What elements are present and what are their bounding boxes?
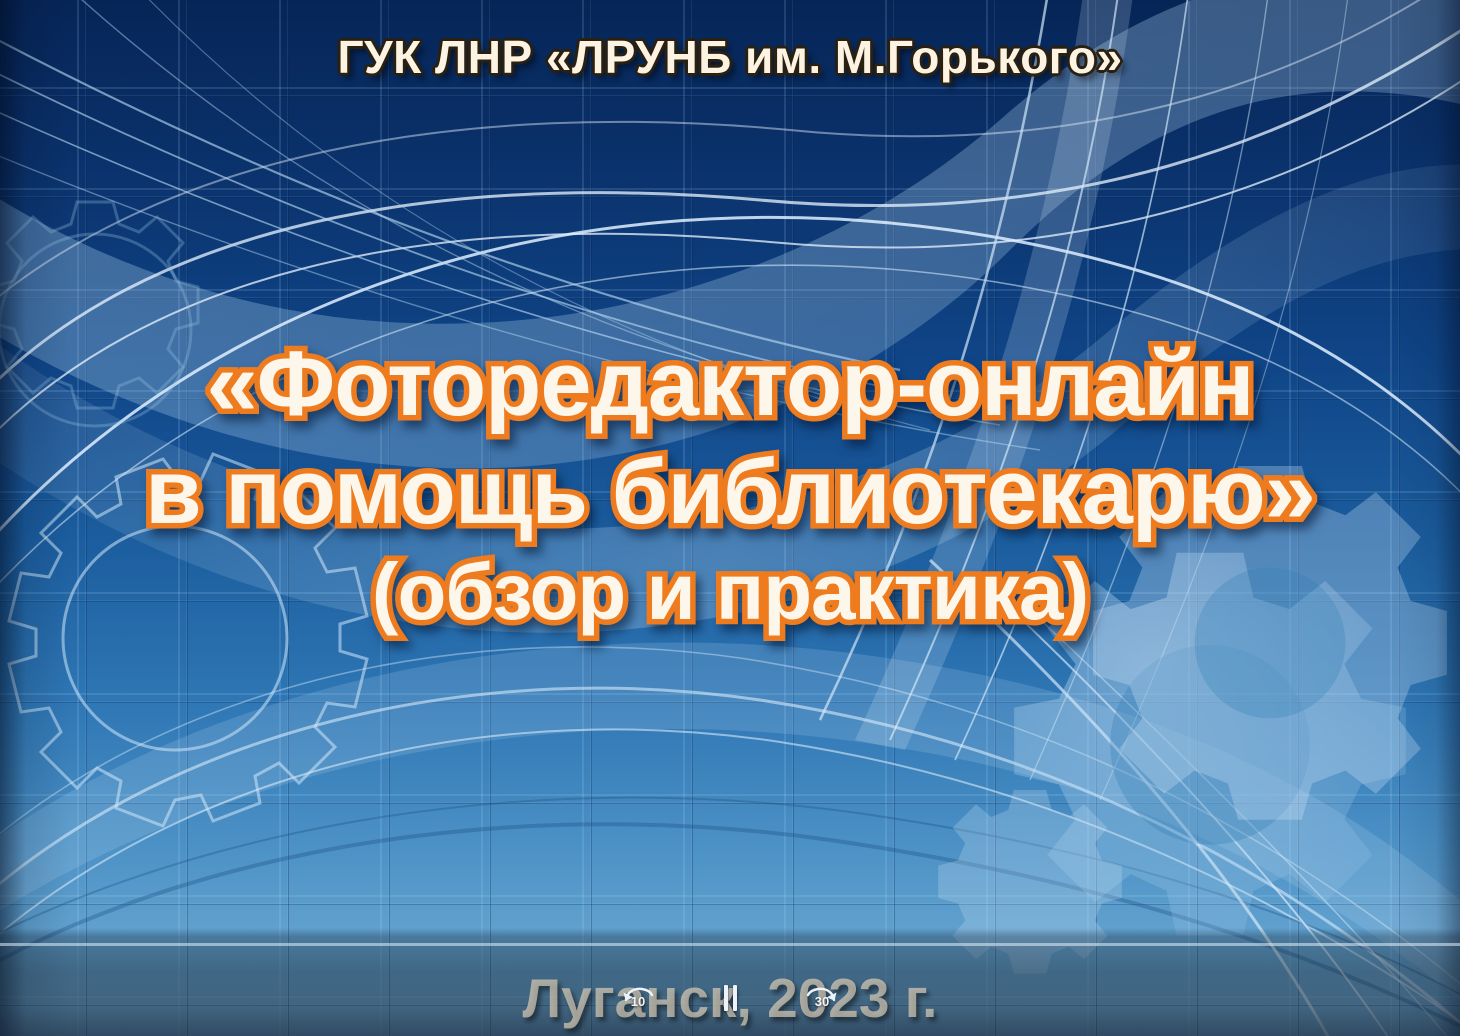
slide-title-line-1: «Фоторедактор-онлайн: [0, 338, 1460, 430]
pause-icon: [724, 985, 737, 1011]
rewind-10-button[interactable]: 10: [618, 981, 658, 1015]
slide-title: «Фоторедактор-онлайн в помощь библиотека…: [0, 338, 1460, 632]
pause-button[interactable]: [710, 981, 750, 1015]
slide-title-line-3: (обзор и практика): [0, 552, 1460, 632]
forward-30-button[interactable]: 30: [802, 981, 842, 1015]
rewind-seconds-label: 10: [618, 994, 658, 1009]
video-player-slide: ГУК ЛНР «ЛРУНБ им. М.Горького» «Фотореда…: [0, 0, 1460, 1036]
forward-seconds-label: 30: [802, 994, 842, 1009]
video-progress-bar[interactable]: [0, 943, 1460, 946]
player-control-bar: 10 30: [618, 978, 842, 1018]
slide-title-line-2: в помощь библиотекарю»: [0, 446, 1460, 538]
organization-heading: ГУК ЛНР «ЛРУНБ им. М.Горького»: [0, 30, 1460, 84]
